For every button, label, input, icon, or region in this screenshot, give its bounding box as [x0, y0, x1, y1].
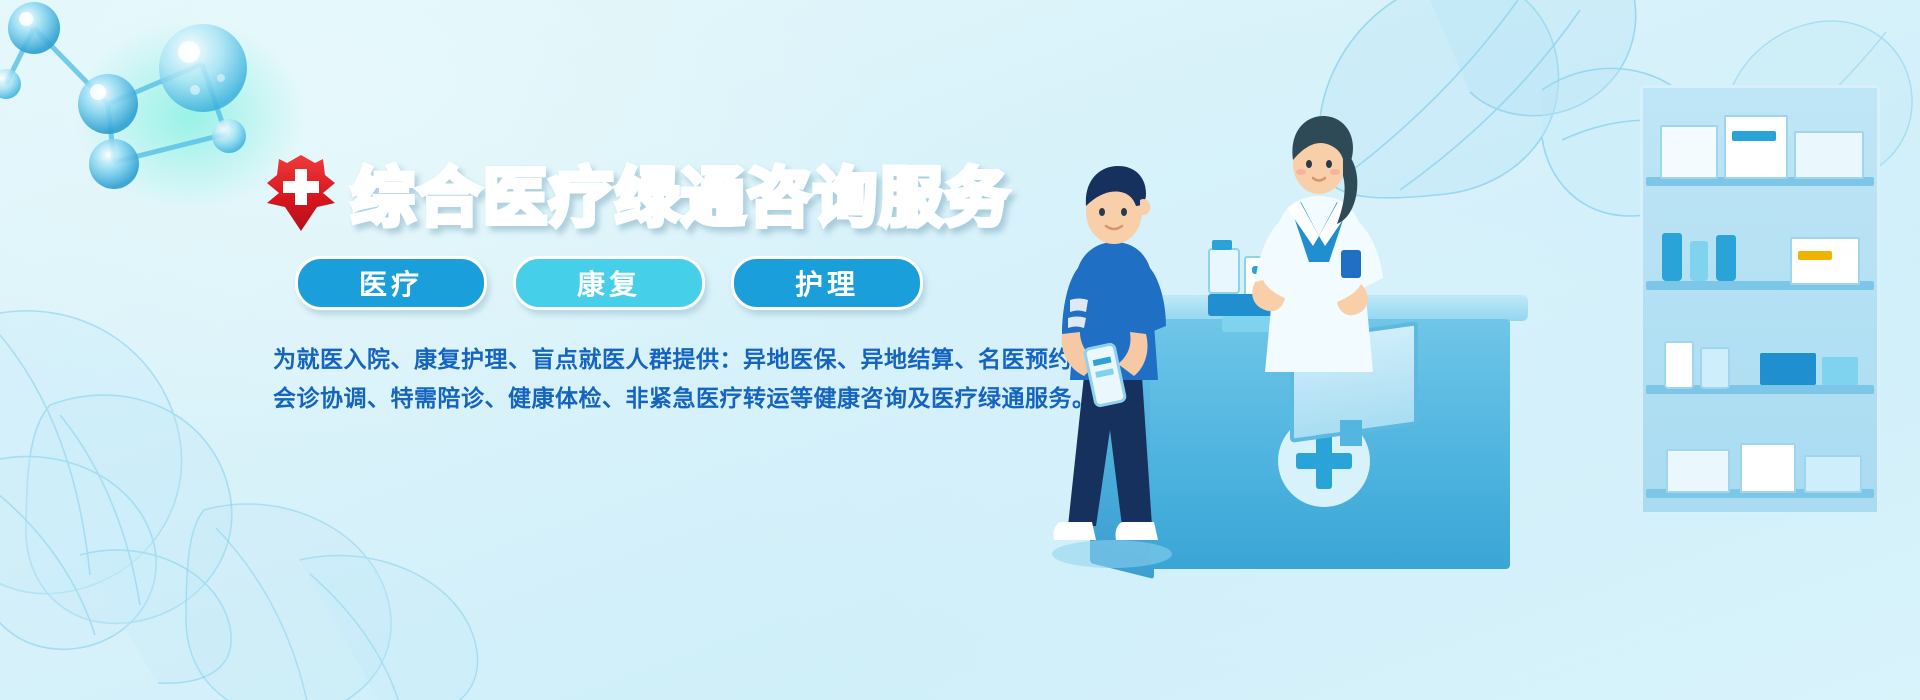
male-customer [1040, 150, 1190, 570]
service-tag-label: 医疗 [359, 263, 423, 303]
medicine-box [1740, 443, 1796, 493]
pill-blister-pack [1760, 353, 1816, 385]
service-tag-label: 康复 [577, 263, 641, 303]
medicine-box [1798, 251, 1832, 260]
medicine-bottle [1716, 235, 1736, 281]
medicine-box [1660, 125, 1718, 179]
medicine-box [1732, 131, 1776, 141]
healthcare-banner: 综合医疗绿通咨询服务 医疗 康复 护理 为就医入院、康复护理、盲点就医人群提供：… [0, 0, 1920, 700]
medicine-bottle [1690, 241, 1708, 281]
description-line-2: 会诊协调、特需陪诊、健康体检、非紧急医疗转运等健康咨询及医疗绿通服务。 [273, 383, 1025, 416]
monitor-stand [1340, 420, 1362, 446]
medicine-box [1666, 449, 1730, 493]
medicine-box [1794, 131, 1864, 179]
description-line-1: 为就医入院、康复护理、盲点就医人群提供：异地医保、异地结算、名医预约 [273, 344, 1025, 377]
banner-content: 综合医疗绿通咨询服务 医疗 康复 护理 为就医入院、康复护理、盲点就医人群提供：… [265, 150, 1025, 421]
medicine-box [1724, 115, 1788, 179]
medicine-bottle [1662, 233, 1682, 281]
medicine-shelf [1640, 85, 1880, 515]
title-row: 综合医疗绿通咨询服务 [265, 150, 1025, 236]
description-block: 为就医入院、康复护理、盲点就医人群提供：异地医保、异地结算、名医预约 会诊协调、… [273, 344, 1025, 415]
red-medical-cross-icon [265, 153, 337, 233]
service-tag-nursing[interactable]: 护理 [731, 256, 923, 310]
female-pharmacist [1235, 110, 1405, 410]
pill-blister-pack [1822, 357, 1858, 385]
service-tag-rehabilitation[interactable]: 康复 [513, 256, 705, 310]
medicine-bottle [1700, 347, 1730, 389]
flower-silhouette-icon [180, 470, 510, 700]
medicine-bottle [1664, 341, 1694, 389]
pharmacy-illustration [1000, 60, 1920, 620]
counter-pill-bottle-cap [1212, 240, 1232, 250]
service-tag-list: 医疗 康复 护理 [295, 256, 1025, 310]
medicine-box [1790, 237, 1860, 285]
service-tag-medical[interactable]: 医疗 [295, 256, 487, 310]
page-title: 综合医疗绿通咨询服务 [351, 147, 1011, 239]
medicine-box [1804, 455, 1862, 493]
service-tag-label: 护理 [795, 263, 859, 303]
